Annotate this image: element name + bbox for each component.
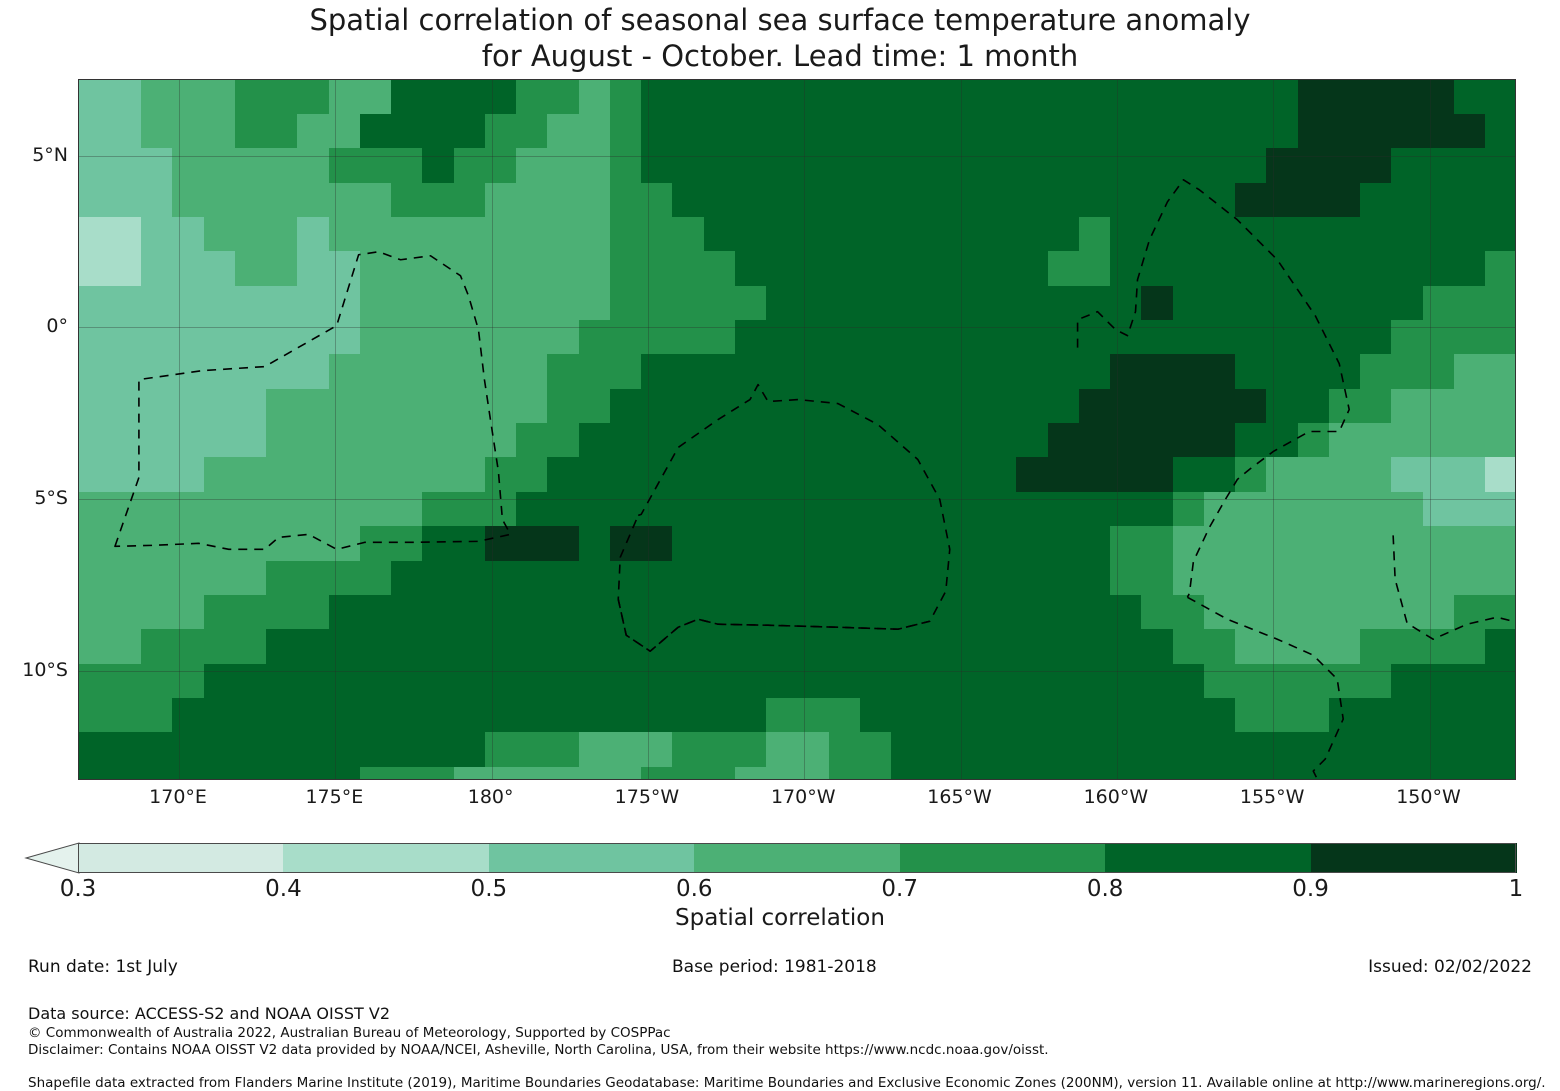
title-line-2: for August - October. Lead time: 1 month xyxy=(0,38,1560,74)
x-tick-label-4: 170°W xyxy=(771,786,836,808)
x-tick-label-6: 160°W xyxy=(1084,786,1149,808)
colorbar-band-5 xyxy=(1105,843,1311,873)
x-tick-label-5: 165°W xyxy=(927,786,992,808)
issued-date-text: Issued: 02/02/2022 xyxy=(1368,957,1532,977)
page-title: Spatial correlation of seasonal sea surf… xyxy=(0,2,1560,74)
y-tick-label-3: 10°S xyxy=(22,659,68,681)
colorbar-label: Spatial correlation xyxy=(0,905,1560,931)
colorbar-tick-5: 0.8 xyxy=(1087,876,1124,902)
x-tick-label-1: 175°E xyxy=(305,786,363,808)
y-tick-label-2: 5°S xyxy=(34,487,68,509)
copyright-text: © Commonwealth of Australia 2022, Austra… xyxy=(28,1025,671,1041)
colorbar-tick-4: 0.7 xyxy=(881,876,918,902)
colorbar-band-2 xyxy=(489,843,695,873)
colorbar-tick-6: 0.9 xyxy=(1292,876,1329,902)
base-period-text: Base period: 1981-2018 xyxy=(672,957,877,977)
colorbar-band-0 xyxy=(78,843,284,873)
x-tick-label-0: 170°E xyxy=(149,786,207,808)
title-line-1: Spatial correlation of seasonal sea surf… xyxy=(0,2,1560,38)
colorbar-extend-min-arrow xyxy=(26,843,79,873)
colorbar-tick-0: 0.3 xyxy=(60,876,97,902)
map-plot-area[interactable] xyxy=(78,79,1516,780)
x-tick-label-2: 180° xyxy=(468,786,514,808)
shapefile-credit-text: Shapefile data extracted from Flanders M… xyxy=(28,1075,1546,1091)
colorbar-bands[interactable] xyxy=(78,843,1516,873)
data-source-text: Data source: ACCESS-S2 and NOAA OISST V2 xyxy=(28,1004,390,1023)
colorbar-band-3 xyxy=(694,843,900,873)
y-tick-label-1: 0° xyxy=(46,315,68,337)
x-tick-label-3: 175°W xyxy=(615,786,680,808)
x-tick-label-8: 150°W xyxy=(1396,786,1461,808)
run-date-text: Run date: 1st July xyxy=(28,957,178,977)
colorbar-tick-1: 0.4 xyxy=(265,876,302,902)
colorbar-band-1 xyxy=(283,843,489,873)
eez-boundary-lines xyxy=(79,80,1515,780)
y-tick-label-0: 5°N xyxy=(32,144,68,166)
colorbar[interactable] xyxy=(0,843,1560,873)
colorbar-tick-7: 1 xyxy=(1509,876,1524,902)
x-tick-label-7: 155°W xyxy=(1240,786,1305,808)
colorbar-band-6 xyxy=(1311,843,1517,873)
colorbar-tick-2: 0.5 xyxy=(471,876,508,902)
colorbar-tick-3: 0.6 xyxy=(676,876,713,902)
disclaimer-text: Disclaimer: Contains NOAA OISST V2 data … xyxy=(28,1042,1049,1058)
colorbar-band-4 xyxy=(900,843,1106,873)
